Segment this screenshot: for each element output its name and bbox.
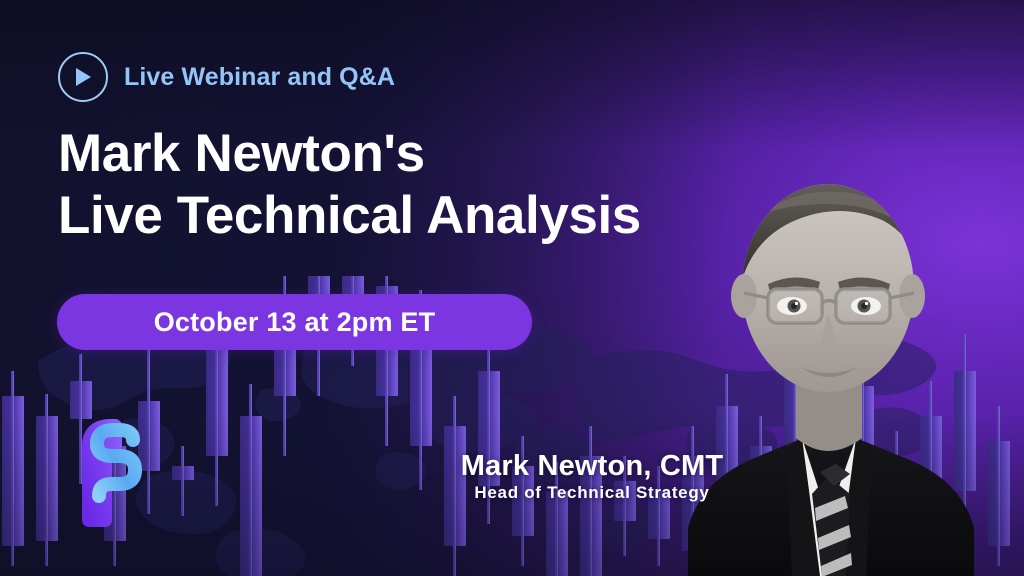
speaker-portrait xyxy=(670,146,1000,576)
page-title: Mark Newton's Live Technical Analysis xyxy=(58,123,641,247)
speaker-role: Head of Technical Strategy xyxy=(447,482,737,504)
webinar-promo-banner: Live Webinar and Q&A Mark Newton's Live … xyxy=(0,0,1024,576)
eyebrow-row: Live Webinar and Q&A xyxy=(58,52,395,102)
speaker-caption: Mark Newton, CMT Head of Technical Strat… xyxy=(447,450,737,504)
date-cta-button[interactable]: October 13 at 2pm ET xyxy=(57,294,532,350)
play-icon xyxy=(58,52,108,102)
eyebrow-label: Live Webinar and Q&A xyxy=(124,63,395,92)
headline-line-1: Mark Newton's xyxy=(58,123,641,185)
fs-monogram-logo[interactable] xyxy=(55,416,147,528)
date-cta-label: October 13 at 2pm ET xyxy=(154,307,436,338)
headline-line-2: Live Technical Analysis xyxy=(58,185,641,247)
speaker-name: Mark Newton, CMT xyxy=(447,450,737,482)
